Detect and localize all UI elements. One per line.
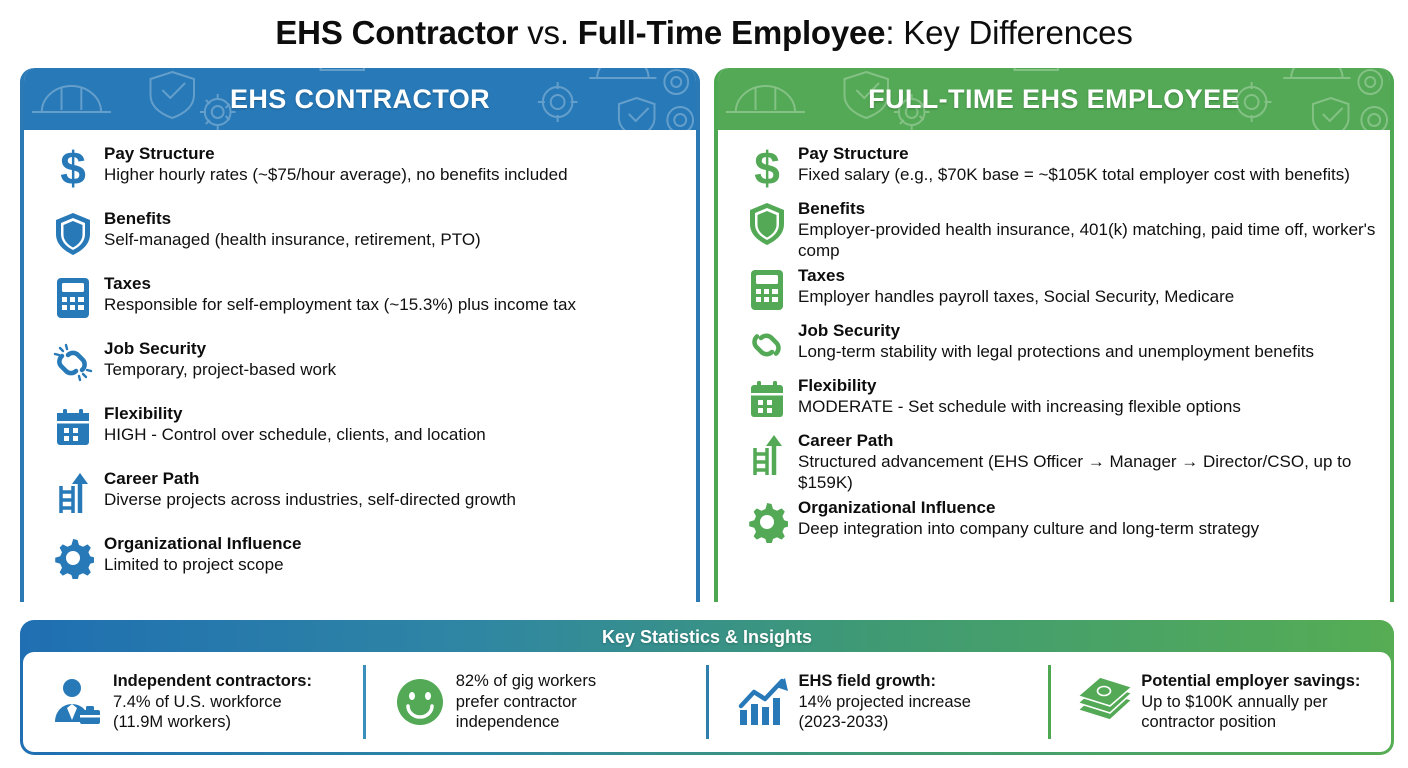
row-label: Career Path — [798, 431, 1376, 451]
row-desc: Employer handles payroll taxes, Social S… — [798, 286, 1376, 307]
row-desc: Long-term stability with legal protectio… — [798, 341, 1376, 362]
stat-line2: prefer contractor — [456, 692, 698, 713]
stat-line3: (11.9M workers) — [113, 712, 355, 733]
employee-header-label: FULL-TIME EHS EMPLOYEE — [718, 68, 1390, 130]
row-desc: Structured advancement (EHS Officer → Ma… — [798, 451, 1376, 493]
row-desc: Employer-provided health insurance, 401(… — [798, 219, 1376, 261]
contractor-card: EHS CONTRACTOR $ Pay Structure Higher ho… — [20, 68, 700, 602]
stat-bold: Independent contractors: — [113, 671, 355, 692]
title-part-suffix: : Key Differences — [885, 14, 1132, 51]
ladder-arrow-icon — [42, 467, 104, 519]
calendar-icon — [42, 402, 104, 454]
employee-card-header: FULL-TIME EHS EMPLOYEE — [718, 68, 1390, 130]
row-desc: Responsible for self-employment tax (~15… — [104, 294, 682, 315]
row-label: Organizational Influence — [798, 498, 1376, 518]
calendar-icon — [736, 374, 798, 426]
list-item: Career Path Diverse projects across indu… — [24, 467, 696, 519]
list-item: $ Pay Structure Higher hourly rates (~$7… — [24, 142, 696, 194]
row-desc: Higher hourly rates (~$75/hour average),… — [104, 164, 682, 185]
stat-line2: 14% projected increase — [799, 692, 1041, 713]
row-label: Taxes — [104, 274, 682, 294]
row-label: Flexibility — [104, 404, 682, 424]
row-desc: Self-managed (health insurance, retireme… — [104, 229, 682, 250]
stat-item: Independent contractors: 7.4% of U.S. wo… — [23, 665, 363, 739]
row-label: Flexibility — [798, 376, 1376, 396]
stat-bold: Potential employer savings: — [1141, 671, 1383, 692]
broken-chain-icon — [42, 337, 104, 389]
row-desc: HIGH - Control over schedule, clients, a… — [104, 424, 682, 445]
list-item: Job Security Temporary, project-based wo… — [24, 337, 696, 389]
stats-title: Key Statistics & Insights — [23, 623, 1391, 652]
stat-item: Potential employer savings: Up to $100K … — [1048, 665, 1391, 739]
list-item: Benefits Self-managed (health insurance,… — [24, 207, 696, 259]
title-part-contractor: EHS Contractor — [275, 14, 518, 51]
list-item: Job Security Long-term stability with le… — [718, 319, 1390, 371]
row-label: Pay Structure — [104, 144, 682, 164]
row-label: Pay Structure — [798, 144, 1376, 164]
smiley-icon — [384, 676, 456, 728]
shield-icon — [42, 207, 104, 259]
list-item: $ Pay Structure Fixed salary (e.g., $70K… — [718, 142, 1390, 194]
stat-line3: contractor position — [1141, 712, 1383, 733]
infographic-canvas: EHS Contractor vs. Full-Time Employee: K… — [0, 0, 1408, 768]
list-item: Career Path Structured advancement (EHS … — [718, 429, 1390, 493]
gear-icon — [736, 496, 798, 548]
contractor-card-header: EHS CONTRACTOR — [24, 68, 696, 130]
contractor-header-label: EHS CONTRACTOR — [24, 68, 696, 130]
gear-icon — [42, 532, 104, 584]
dollar-icon: $ — [42, 142, 104, 194]
growth-chart-icon — [727, 676, 799, 728]
key-statistics-bar: Key Statistics & Insights Independent co… — [20, 620, 1394, 755]
stat-item: EHS field growth: 14% projected increase… — [706, 665, 1049, 739]
list-item: Taxes Employer handles payroll taxes, So… — [718, 264, 1390, 316]
row-label: Job Security — [104, 339, 682, 359]
list-item: Flexibility HIGH - Control over schedule… — [24, 402, 696, 454]
stat-bold: EHS field growth: — [799, 671, 1041, 692]
businessman-icon — [41, 674, 113, 730]
row-label: Career Path — [104, 469, 682, 489]
stat-line2: Up to $100K annually per — [1141, 692, 1383, 713]
calculator-icon — [42, 272, 104, 324]
dollar-icon: $ — [736, 142, 798, 194]
row-desc: Deep integration into company culture an… — [798, 518, 1376, 539]
row-desc: Fixed salary (e.g., $70K base = ~$105K t… — [798, 164, 1376, 185]
ladder-arrow-icon — [736, 429, 798, 481]
employee-rows: $ Pay Structure Fixed salary (e.g., $70K… — [718, 130, 1390, 548]
stat-item: 82% of gig workers prefer contractor ind… — [363, 665, 706, 739]
chain-icon — [736, 319, 798, 371]
row-label: Organizational Influence — [104, 534, 682, 554]
contractor-rows: $ Pay Structure Higher hourly rates (~$7… — [24, 130, 696, 584]
list-item: Organizational Influence Deep integratio… — [718, 496, 1390, 548]
stat-line3: independence — [456, 712, 698, 733]
title-part-vs: vs. — [518, 14, 578, 51]
stats-body: Independent contractors: 7.4% of U.S. wo… — [23, 652, 1391, 752]
list-item: Organizational Influence Limited to proj… — [24, 532, 696, 584]
page-title: EHS Contractor vs. Full-Time Employee: K… — [0, 12, 1408, 54]
row-desc: Temporary, project-based work — [104, 359, 682, 380]
row-desc: Limited to project scope — [104, 554, 682, 575]
list-item: Taxes Responsible for self-employment ta… — [24, 272, 696, 324]
employee-card: FULL-TIME EHS EMPLOYEE $ Pay Structure F… — [714, 68, 1394, 602]
row-desc: Diverse projects across industries, self… — [104, 489, 682, 510]
calculator-icon — [736, 264, 798, 316]
list-item: Flexibility MODERATE - Set schedule with… — [718, 374, 1390, 426]
row-label: Benefits — [104, 209, 682, 229]
svg-text:$: $ — [754, 145, 780, 191]
row-label: Job Security — [798, 321, 1376, 341]
shield-icon — [736, 197, 798, 249]
stat-line2: 7.4% of U.S. workforce — [113, 692, 355, 713]
stat-line1: 82% of gig workers — [456, 671, 698, 692]
row-label: Benefits — [798, 199, 1376, 219]
money-stack-icon — [1069, 676, 1141, 728]
stat-line3: (2023-2033) — [799, 712, 1041, 733]
title-part-employee: Full-Time Employee — [578, 14, 886, 51]
list-item: Benefits Employer-provided health insura… — [718, 197, 1390, 261]
svg-text:$: $ — [60, 145, 86, 191]
row-desc: MODERATE - Set schedule with increasing … — [798, 396, 1376, 417]
row-label: Taxes — [798, 266, 1376, 286]
